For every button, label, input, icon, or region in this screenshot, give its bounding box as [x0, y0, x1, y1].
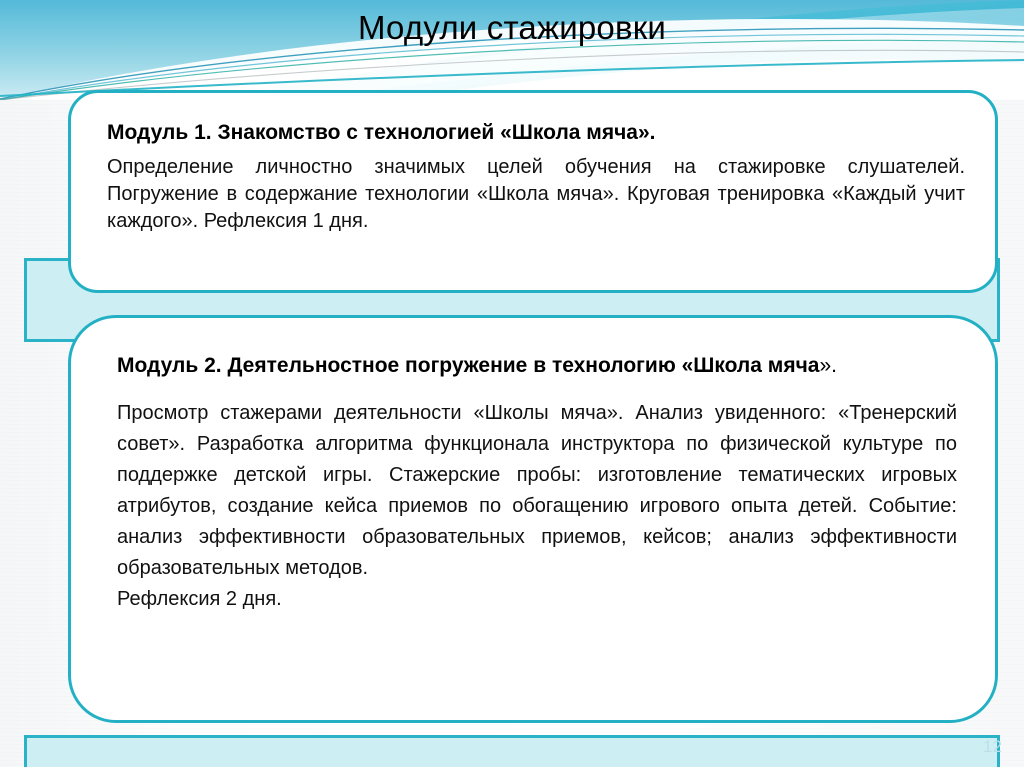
page-title: Модули стажировки: [0, 8, 1024, 48]
page-number: 12: [983, 737, 1002, 757]
connector-band-bottom: [24, 735, 1000, 767]
module-1-card: Модуль 1. Знакомство с технологией «Школ…: [68, 90, 998, 293]
module-2-body: Просмотр стажерами деятельности «Школы м…: [117, 398, 957, 584]
module-1-body: Определение личностно значимых целей обу…: [107, 154, 965, 235]
module-2-heading-plain: ».: [819, 354, 837, 377]
module-2-body-tail: Рефлексия 2 дня.: [117, 584, 957, 615]
module-2-card: Модуль 2. Деятельностное погружение в те…: [68, 315, 998, 723]
module-2-heading: Модуль 2. Деятельностное погружение в те…: [117, 352, 957, 380]
module-1-heading: Модуль 1. Знакомство с технологией «Школ…: [107, 119, 965, 147]
module-2-heading-bold: Модуль 2. Деятельностное погружение в те…: [117, 354, 819, 377]
presentation-slide: Модули стажировки Модуль 1. Знакомство с…: [0, 0, 1024, 767]
